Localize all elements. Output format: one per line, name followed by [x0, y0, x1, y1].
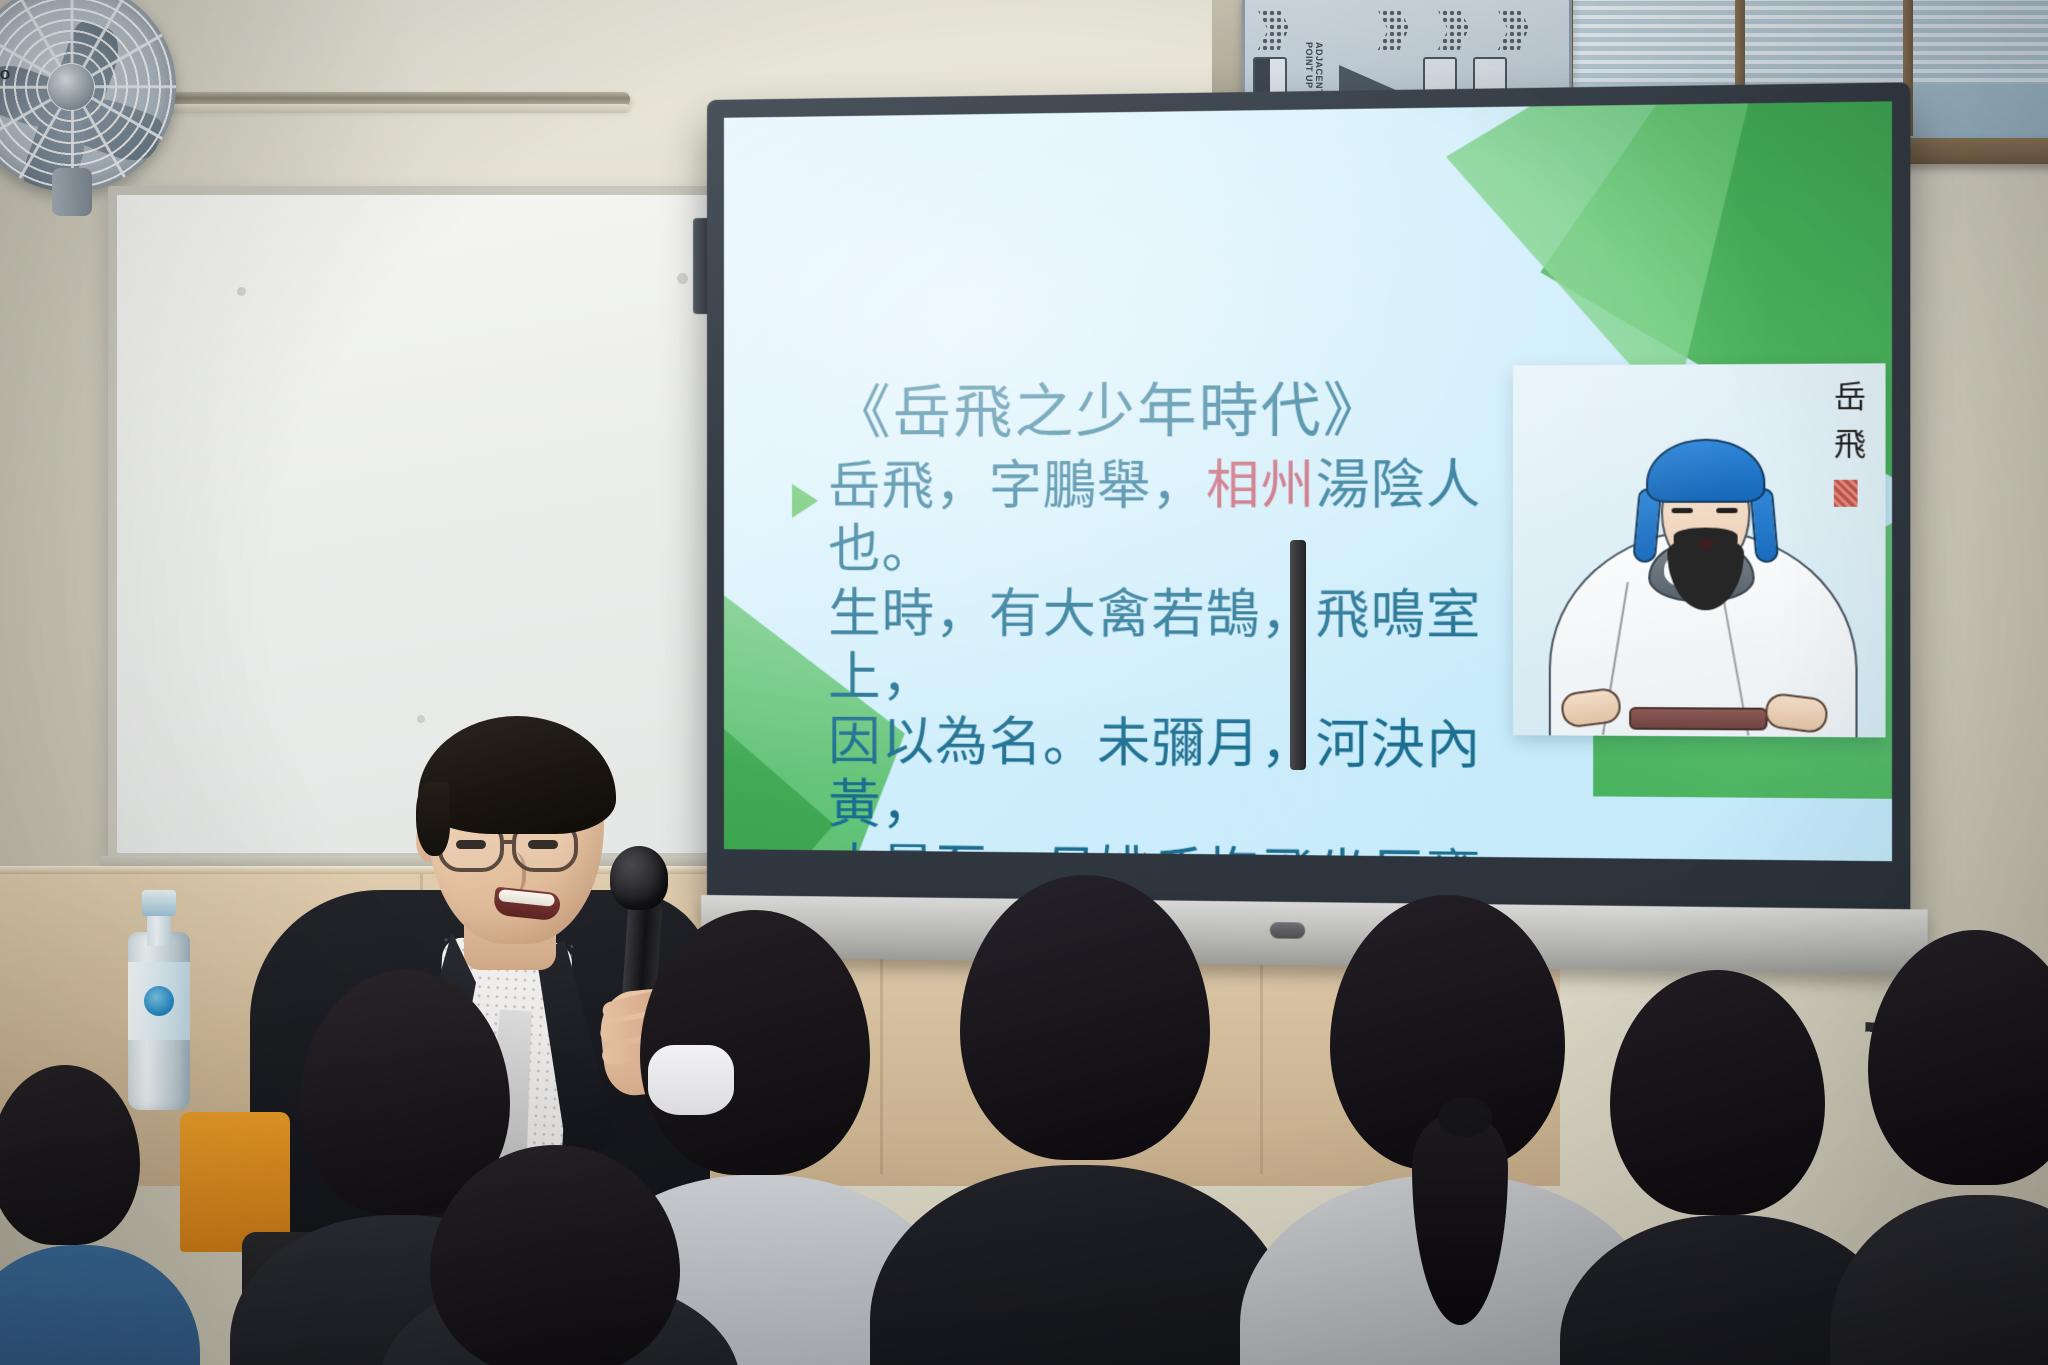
student-head-6 [1610, 970, 1825, 1215]
ceiling-rail-highlight [150, 104, 630, 113]
student-face-mask [648, 1045, 734, 1115]
speaker-glasses-bridge [502, 840, 516, 844]
student-shoulders [870, 1165, 1290, 1365]
student-shoulders [1830, 1195, 2048, 1365]
presentation-slide: 《岳飛之少年時代》 岳飛，字鵬舉，相州湯陰人也。 生時，有大禽若鵠，飛鳴室上， … [724, 101, 1892, 861]
display-wall-mount [1290, 540, 1306, 770]
half-circle-icon [1253, 57, 1287, 95]
notice-label: ADJACENT POINT UP [1303, 42, 1323, 95]
figure-hat [1646, 439, 1765, 503]
speaker-hair-sideburn [416, 782, 450, 856]
notice-frame [1212, 0, 1246, 106]
slide-title: 《岳飛之少年時代》 [832, 362, 1385, 450]
wall-fan: TECO [0, 0, 206, 212]
interactive-flat-panel-display[interactable]: 《岳飛之少年時代》 岳飛，字鵬舉，相州湯陰人也。 生時，有大禽若鵠，飛鳴室上， … [707, 82, 1921, 998]
arrow-glyph-icon [1495, 10, 1529, 50]
speaker-teeth [498, 889, 555, 907]
audience-students [0, 935, 2048, 1365]
slide-body-line-1: 岳飛，字鵬舉，相州湯陰人也。 [828, 454, 1507, 584]
figure-mouth [1697, 538, 1714, 550]
student-head-7 [1868, 930, 2048, 1185]
display-bezel: 《岳飛之少年時代》 岳飛，字鵬舉，相州湯陰人也。 生時，有大禽若鵠，飛鳴室上， … [707, 82, 1910, 919]
window-blind [1573, 0, 2048, 84]
classroom-scene: ADJACENT POINT UP TECO [0, 0, 2048, 1365]
student-head-3 [640, 910, 870, 1175]
portrait-caption: 岳飛 [1830, 380, 1862, 476]
arrow-glyph-icon [1435, 10, 1469, 50]
fan-mount [52, 168, 92, 216]
line1-highlight: 相州 [1206, 457, 1316, 515]
student-shoulders [0, 1245, 200, 1365]
figure-eye-right [1716, 508, 1737, 513]
bullet-triangle-icon [792, 484, 818, 518]
microphone-head-icon[interactable] [610, 846, 668, 910]
fan-cage [0, 0, 176, 192]
fan-hub [48, 64, 94, 110]
line1-part-a: 岳飛，字鵬舉， [828, 458, 1206, 516]
figure-eye-left [1672, 508, 1693, 513]
arrow-glyph-icon [1375, 10, 1409, 50]
figure-belt [1629, 707, 1767, 731]
student-head-1 [0, 1065, 140, 1245]
display-screen[interactable]: 《岳飛之少年時代》 岳飛，字鵬舉，相州湯陰人也。 生時，有大禽若鵠，飛鳴室上， … [724, 101, 1892, 861]
portrait-seal-icon [1834, 480, 1858, 507]
notice-panel: ADJACENT POINT UP [1242, 0, 1572, 102]
slide-body-line-3: 因以為名。未彌月，河決內黃， [828, 710, 1507, 844]
arrow-glyph-icon [1255, 10, 1289, 50]
slide-body-text: 岳飛，字鵬舉，相州湯陰人也。 生時，有大禽若鵠，飛鳴室上， 因以為名。未彌月，河… [828, 454, 1507, 861]
bottle-cap [142, 890, 176, 916]
student-hair-tie [1438, 1097, 1492, 1137]
slide-body-line-2: 生時，有大禽若鵠，飛鳴室上， [828, 583, 1507, 714]
yue-fei-portrait: 岳飛 [1513, 363, 1886, 737]
